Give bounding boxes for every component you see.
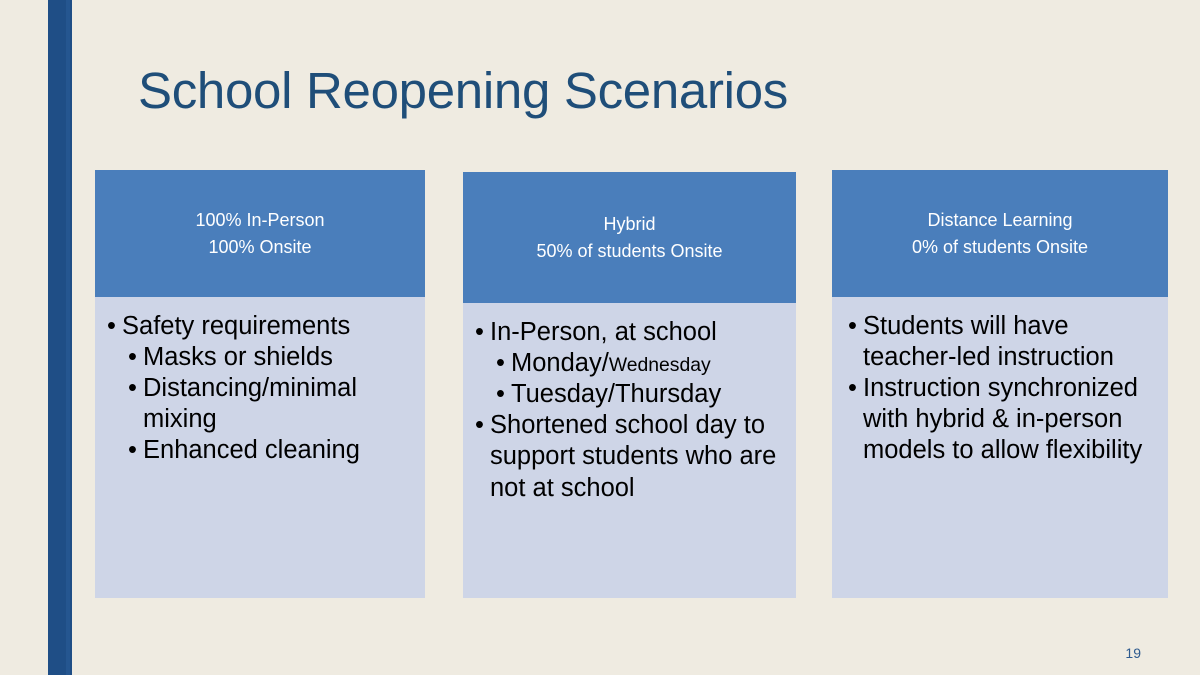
scenario-header-line-2: 100% Onsite — [208, 234, 311, 260]
bullet-text: Monday/ — [511, 349, 609, 377]
scenario-card-distance-learning[interactable]: Distance Learning 0% of students Onsite … — [832, 170, 1168, 598]
bullet-text: Safety requirements — [122, 312, 350, 340]
scenario-header-line-1: 100% In-Person — [195, 207, 324, 233]
list-item: Distancing/minimal mixing — [105, 373, 415, 435]
scenario-bullet-list: Safety requirements Masks or shields Dis… — [105, 311, 415, 467]
scenario-header-line-1: Distance Learning — [927, 207, 1072, 233]
bullet-text: Shortened school day to support students… — [490, 411, 776, 501]
slide-number: 19 — [1125, 645, 1141, 661]
bullet-text: In-Person, at school — [490, 318, 717, 346]
bullet-text: Distancing/minimal mixing — [143, 374, 357, 433]
list-item: Shortened school day to support students… — [473, 410, 786, 503]
scenario-card-body: Safety requirements Masks or shields Dis… — [95, 297, 425, 598]
scenario-card-body: In-Person, at school Monday/Wednesday Tu… — [463, 303, 796, 598]
scenario-card-body: Students will have teacher-led instructi… — [832, 297, 1168, 598]
list-item: Monday/Wednesday — [473, 348, 786, 379]
list-item: Instruction synchronized with hybrid & i… — [846, 373, 1158, 466]
bullet-text-small-run: Wednesday — [609, 354, 711, 376]
scenario-card-header: 100% In-Person 100% Onsite — [95, 170, 425, 297]
list-item: Masks or shields — [105, 342, 415, 373]
list-item: Students will have teacher-led instructi… — [846, 311, 1158, 373]
scenario-bullet-list: In-Person, at school Monday/Wednesday Tu… — [473, 317, 786, 504]
scenario-bullet-list: Students will have teacher-led instructi… — [846, 311, 1158, 467]
scenario-header-line-2: 0% of students Onsite — [912, 234, 1088, 260]
scenario-card-header: Distance Learning 0% of students Onsite — [832, 170, 1168, 297]
scenario-card-header: Hybrid 50% of students Onsite — [463, 172, 796, 303]
list-item: In-Person, at school — [473, 317, 786, 348]
bullet-text: Masks or shields — [143, 343, 333, 371]
scenario-card-in-person[interactable]: 100% In-Person 100% Onsite Safety requir… — [95, 170, 425, 598]
list-item: Safety requirements — [105, 311, 415, 342]
bullet-text: Enhanced cleaning — [143, 436, 360, 464]
bullet-text: Instruction synchronized with hybrid & i… — [863, 374, 1142, 464]
scenario-cards: 100% In-Person 100% Onsite Safety requir… — [0, 0, 1200, 675]
scenario-header-line-1: Hybrid — [603, 211, 655, 237]
scenario-card-hybrid[interactable]: Hybrid 50% of students Onsite In-Person,… — [463, 172, 796, 598]
bullet-text: Students will have teacher-led instructi… — [863, 312, 1114, 371]
list-item: Tuesday/Thursday — [473, 379, 786, 410]
scenario-header-line-2: 50% of students Onsite — [536, 238, 722, 264]
list-item: Enhanced cleaning — [105, 435, 415, 466]
bullet-text: Tuesday/Thursday — [511, 380, 721, 408]
